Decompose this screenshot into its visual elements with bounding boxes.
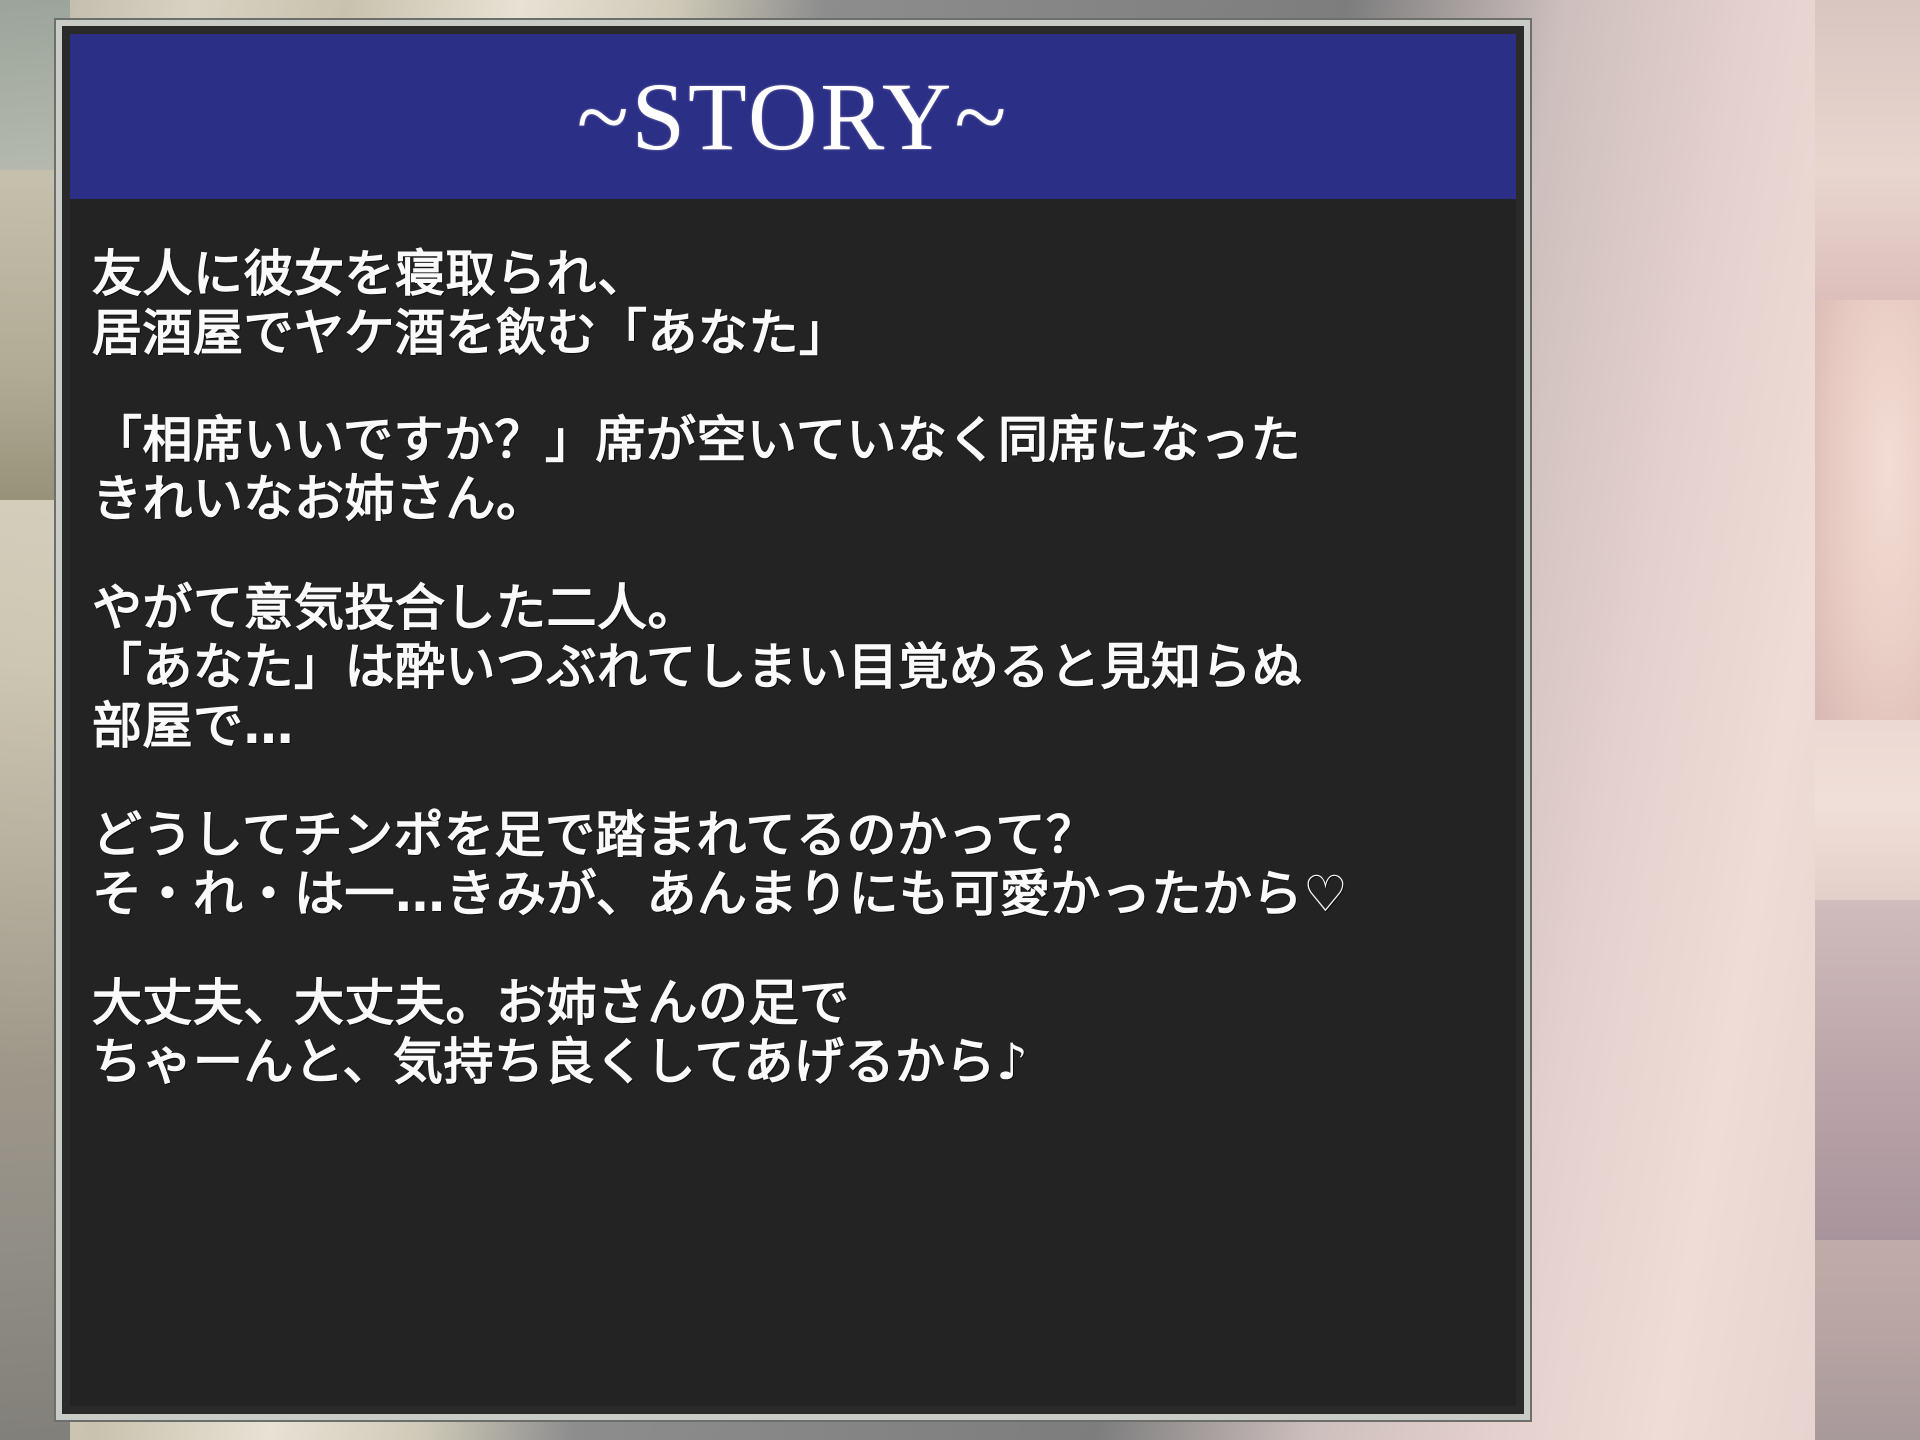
story-paragraph-5: 大丈夫、大丈夫。お姉さんの足で ちゃーんと、気持ち良くしてあげるから♪: [92, 974, 1490, 1092]
story-panel-inner: ~STORY~ 友人に彼女を寝取られ、 居酒屋でヤケ酒を飲む「あなた」 「相席い…: [70, 34, 1516, 1406]
background-right-accent: [1815, 900, 1920, 1240]
background-character-art: [1815, 300, 1920, 720]
story-paragraph-1: 友人に彼女を寝取られ、 居酒屋でヤケ酒を飲む「あなた」: [92, 245, 1490, 363]
story-header: ~STORY~: [70, 34, 1516, 199]
story-paragraph-2: 「相席いいですか？」席が空いていなく同席になった きれいなお姉さん。: [92, 411, 1490, 529]
page-title: ~STORY~: [577, 69, 1010, 165]
story-panel: ~STORY~ 友人に彼女を寝取られ、 居酒屋でヤケ酒を飲む「あなた」 「相席い…: [56, 20, 1530, 1420]
story-body: 友人に彼女を寝取られ、 居酒屋でヤケ酒を飲む「あなた」 「相席いいですか？」席が…: [70, 199, 1516, 1406]
story-paragraph-3: やがて意気投合した二人。 「あなた」は酔いつぶれてしまい目覚めると見知らぬ 部屋…: [92, 579, 1490, 756]
story-paragraph-4: どうしてチンポを足で踏まれてるのかって？ そ・れ・は一…きみが、あんまりにも可愛…: [92, 806, 1490, 924]
background-right-region: [1815, 0, 1920, 1440]
